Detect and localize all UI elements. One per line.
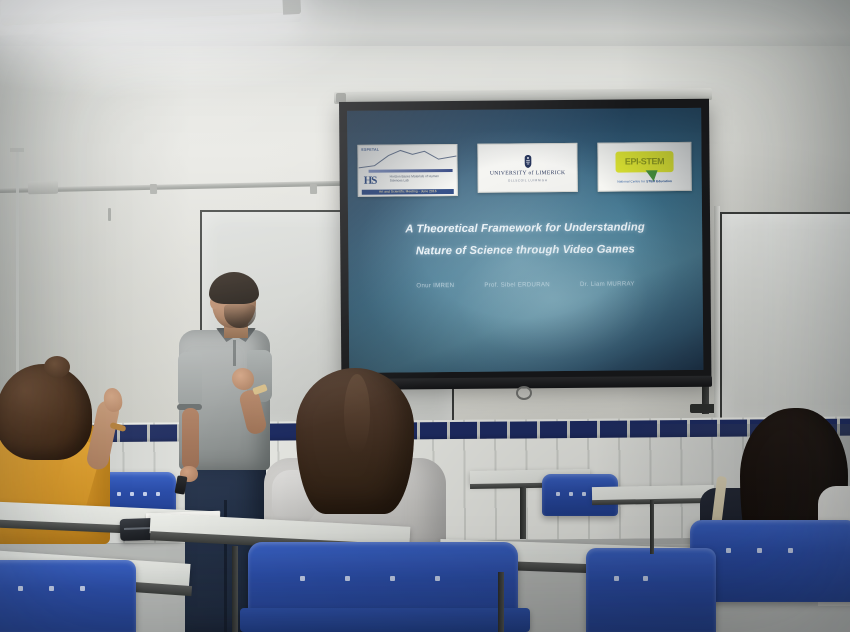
slide-author-3: Dr. Liam MURRAY: [580, 280, 635, 287]
hse-logo-footer: Art and Scientific Meeting - June 2016: [362, 189, 454, 195]
slide-author-1: Onur IMREN: [416, 282, 454, 289]
epi-stem-logo-word: EPI-STEM: [625, 156, 664, 166]
whiteboard-right: [720, 212, 850, 424]
conduit-clip: [310, 184, 317, 194]
fluorescent-tube: [0, 0, 286, 26]
student-center-hair-highlight: [344, 374, 370, 454]
chair-vent-holes: [726, 548, 793, 553]
chair-vent-holes: [300, 576, 440, 581]
chair: [0, 560, 136, 632]
chair: [586, 548, 716, 632]
slide-logo-row: ESPETAL HS Horizon Bases Materials of Hu…: [357, 142, 691, 197]
wall-screw-mark: [108, 208, 111, 221]
student-left-hair: [0, 364, 92, 460]
slide-author-2: Prof. Sibel ERDURAN: [484, 281, 550, 289]
hse-logo-letters: HS: [364, 175, 377, 187]
slide-title-line-1: A Theoretical Framework for Understandin…: [348, 216, 702, 241]
university-logo-tagline: OLLSCOIL LUIMNIGH: [508, 178, 548, 182]
chair-seat: [240, 608, 530, 632]
slide-title: A Theoretical Framework for Understandin…: [348, 216, 702, 263]
slide-author-line: Onur IMREN Prof. Sibel ERDURAN Dr. Liam …: [349, 280, 703, 290]
chair-vent-holes: [614, 576, 648, 581]
chair-vent-holes: [18, 586, 85, 591]
university-of-limerick-logo: UNIVERSITY of LIMERICK OLLSCOIL LUIMNIGH: [477, 143, 577, 193]
classroom-photo: ESPETAL HS Horizon Bases Materials of Hu…: [0, 0, 850, 632]
light-end-cap: [282, 0, 301, 15]
epi-stem-logo: EPI-STEM National Centre for STEM Educat…: [597, 142, 691, 192]
wall-trim-bracket: [10, 148, 24, 152]
desk-leg: [232, 546, 238, 632]
student-left-hair-bun: [44, 356, 70, 378]
hse-logo-subtext: Horizon Bases Materials of Human Science…: [390, 174, 452, 183]
university-crest-icon: [522, 154, 533, 168]
hse-logo-curve-graphic: [358, 147, 456, 170]
presenter-left-arm: [182, 408, 199, 470]
chair-vent-holes: [104, 492, 160, 496]
hse-logo-rule: [369, 169, 453, 173]
presentation-slide: ESPETAL HS Horizon Bases Materials of Hu…: [347, 108, 703, 373]
desk-leg: [520, 487, 526, 539]
presenter-shirt-placket: [233, 340, 236, 366]
conduit-clip: [150, 184, 157, 194]
desk-leg: [650, 500, 654, 554]
screen-pull-ring[interactable]: [516, 386, 532, 400]
presenter-right-hand: [232, 368, 254, 390]
projection-screen: ESPETAL HS Horizon Bases Materials of Hu…: [339, 99, 711, 385]
desk-leg: [498, 572, 504, 632]
speech-bubble-icon: EPI-STEM: [615, 151, 673, 173]
hse-logo: ESPETAL HS Horizon Bases Materials of Hu…: [357, 144, 457, 197]
slide-title-line-2: Nature of Science through Video Games: [348, 238, 702, 263]
epi-stem-subtext-lead: National Centre for: [617, 179, 645, 183]
presenter-left-sleeve: [178, 352, 202, 408]
conduit-junction-box: [28, 181, 58, 195]
university-logo-name: UNIVERSITY of LIMERICK: [490, 170, 566, 177]
